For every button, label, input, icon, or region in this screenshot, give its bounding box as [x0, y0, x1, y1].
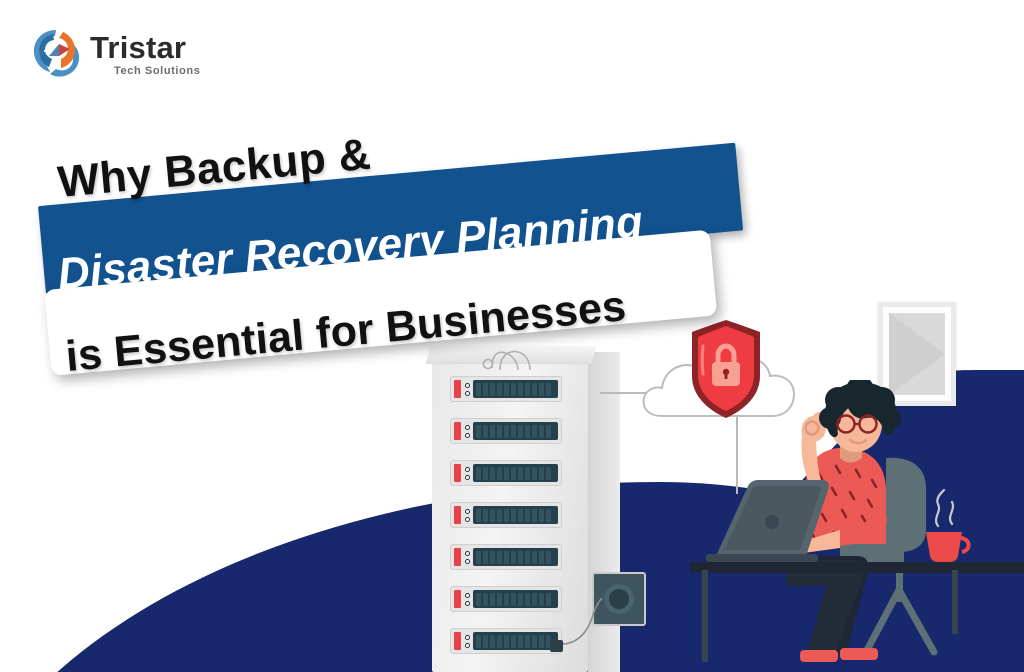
unit-drive-bay [473, 464, 558, 482]
brand-logo[interactable]: Tristar Tech Solutions [30, 26, 200, 82]
office-chair-back [886, 458, 926, 552]
office-chair-leg [899, 590, 934, 652]
coffee-cup-body [926, 532, 962, 562]
headline-block: Why Backup & Disaster Recovery Planning … [44, 150, 764, 390]
unit-status-dots-icon [465, 509, 470, 522]
unit-drive-bay [473, 548, 558, 566]
person-shoe [800, 650, 838, 662]
server-unit [450, 502, 562, 528]
desk-top [690, 562, 1024, 573]
unit-led-icon [454, 632, 461, 650]
brand-logo-text: Tristar Tech Solutions [90, 32, 200, 77]
desk-leg [702, 570, 708, 662]
unit-led-icon [454, 590, 461, 608]
unit-drive-bay [473, 506, 558, 524]
coffee-cup-handle [960, 538, 969, 552]
unit-status-dots-icon [465, 467, 470, 480]
unit-drive-bay [473, 422, 558, 440]
person-leg-front [786, 560, 863, 656]
unit-drive-bay [473, 590, 558, 608]
banner-canvas: Tristar Tech Solutions Why Backup & Disa… [0, 0, 1024, 672]
server-unit [450, 460, 562, 486]
server-unit [450, 586, 562, 612]
unit-status-dots-icon [465, 425, 470, 438]
unit-led-icon [454, 422, 461, 440]
laptop-base [706, 554, 818, 562]
server-unit [450, 418, 562, 444]
server-unit [450, 544, 562, 570]
coffee-steam-icon [950, 502, 953, 524]
person-shoe [840, 648, 878, 660]
brand-name: Tristar [90, 32, 200, 63]
unit-led-icon [454, 506, 461, 524]
unit-status-dots-icon [465, 551, 470, 564]
person-hair-curl [879, 407, 901, 429]
unit-drive-bay [473, 632, 558, 650]
fan-ring-icon [604, 584, 634, 614]
coffee-steam-icon [936, 490, 944, 526]
brand-tagline: Tech Solutions [114, 66, 200, 77]
tristar-swirl-icon [30, 26, 82, 82]
unit-led-icon [454, 464, 461, 482]
fan-power-cable [556, 596, 606, 646]
fan-cable-plug [550, 640, 563, 652]
desk-leg [952, 570, 958, 634]
workspace-scene [690, 380, 1024, 672]
office-chair-leg [866, 590, 899, 652]
server-unit [450, 628, 562, 654]
unit-status-dots-icon [465, 635, 470, 648]
unit-led-icon [454, 548, 461, 566]
unit-status-dots-icon [465, 593, 470, 606]
laptop-logo-icon [765, 515, 779, 529]
